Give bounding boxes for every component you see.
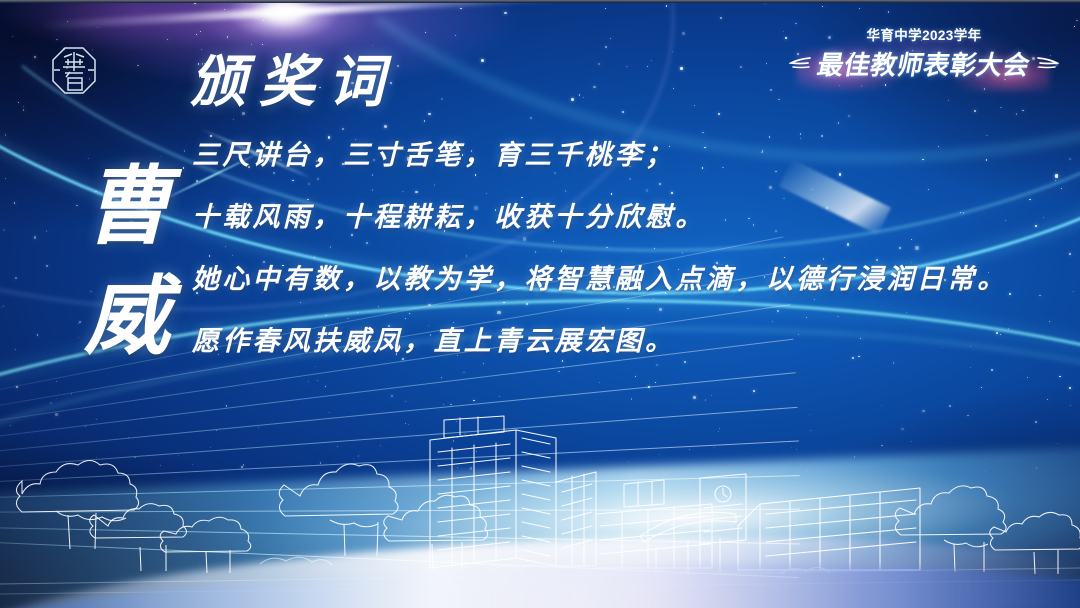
tree-cluster-center (279, 464, 398, 556)
clock-tower (700, 474, 746, 544)
citation-line: 愿作春风扶威凤，直上青云展宏图。 (192, 326, 1058, 358)
citation-line: 十载风雨，十程耕耘，收获十分欣慰。 (192, 202, 1058, 234)
swoosh-right-icon (1037, 57, 1059, 71)
citation-line: 三尺讲台，三寸舌笔，育三千桃李； (192, 140, 1058, 172)
citation-line: 她心中有数，以教为学，将智慧融入点滴，以德行浸润日常。 (192, 264, 1058, 296)
top-edge-band (0, 0, 1080, 3)
honoree-name-char-2: 威 (72, 262, 182, 372)
page-title: 颁奖词 (190, 54, 397, 110)
event-year-label: 华育中学2023学年 (790, 28, 1058, 44)
octagon-school-seal-icon (52, 47, 96, 94)
event-title-label: 最佳教师表彰大会 (814, 45, 1033, 82)
award-citation-slide: 华育中学2023学年 最佳教师表彰大会 颁奖词 曹 威 三尺讲台，三寸舌笔， (0, 0, 1080, 608)
event-title-row: 最佳教师表彰大会 (790, 45, 1058, 82)
tree-cluster-left (16, 461, 138, 550)
swoosh-left-icon (789, 57, 811, 71)
tree-cluster-left-2 (90, 504, 187, 571)
citation-body: 三尺讲台，三寸舌笔，育三千桃李； 十载风雨，十程耕耘，收获十分欣慰。 她心中有数… (192, 140, 1058, 357)
event-header: 华育中学2023学年 最佳教师表彰大会 (790, 28, 1058, 94)
honoree-name-vertical: 曹 威 (72, 152, 182, 372)
honoree-name-char-1: 曹 (72, 152, 182, 262)
